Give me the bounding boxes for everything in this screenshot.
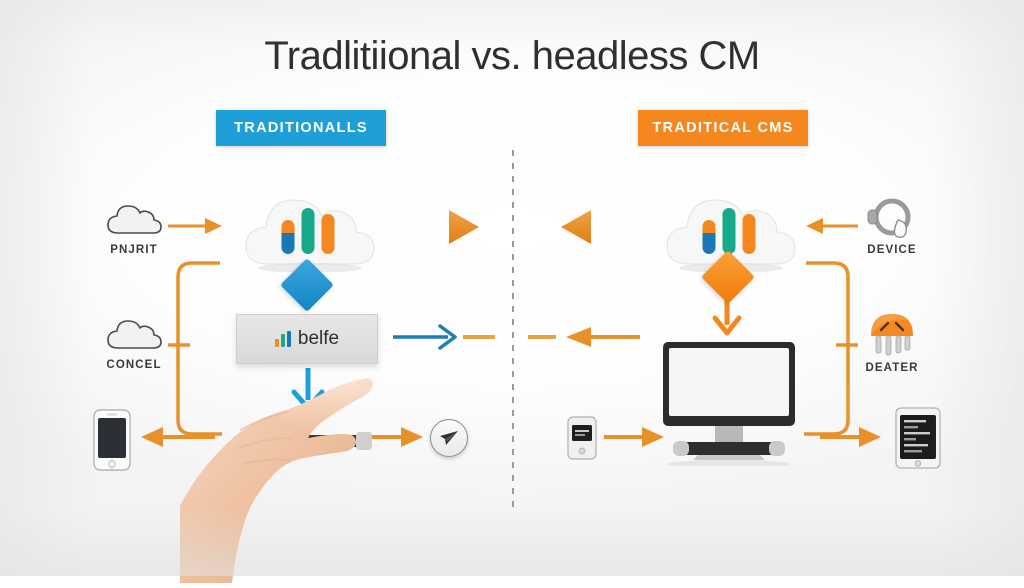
desktop-monitor-icon (655, 338, 803, 458)
cloud-icon (104, 315, 164, 355)
pointing-hand-photo (180, 368, 440, 583)
belfe-label: belfe (298, 328, 339, 350)
badge-traditional-right: TRADITICAL CMS (638, 110, 808, 146)
panel-divider (512, 150, 514, 510)
cloud-concel-label: CONCEL (106, 359, 161, 371)
cloud-bar-chart (703, 208, 756, 254)
cloud-bar-chart (282, 208, 335, 254)
cloud-chart-icon (234, 180, 382, 272)
cloud-concel: CONCEL (104, 315, 164, 355)
small-device-icon (566, 415, 598, 466)
badge-traditional-left: TRADITIONALLS (216, 110, 386, 146)
cloud-analytics-left (234, 180, 382, 272)
belfe-box: belfe (236, 314, 378, 364)
cloud-pnjrit: PNJRIT (104, 200, 164, 240)
cloud-pnjrit-label: PNJRIT (110, 244, 158, 256)
device-node: DEVICE (864, 196, 920, 247)
tablet-icon (894, 406, 942, 475)
deater-label: DEATER (865, 362, 918, 374)
page-title: Tradlitiional vs. headless CM (0, 34, 1024, 79)
device-label: DEVICE (867, 244, 916, 256)
smartphone-icon (92, 408, 132, 477)
plug-dome-icon (864, 308, 920, 363)
cloud-icon (104, 200, 164, 240)
deater-node: DEATER (864, 308, 920, 363)
bar-chart-icon (275, 331, 291, 347)
headset-icon (864, 196, 920, 247)
